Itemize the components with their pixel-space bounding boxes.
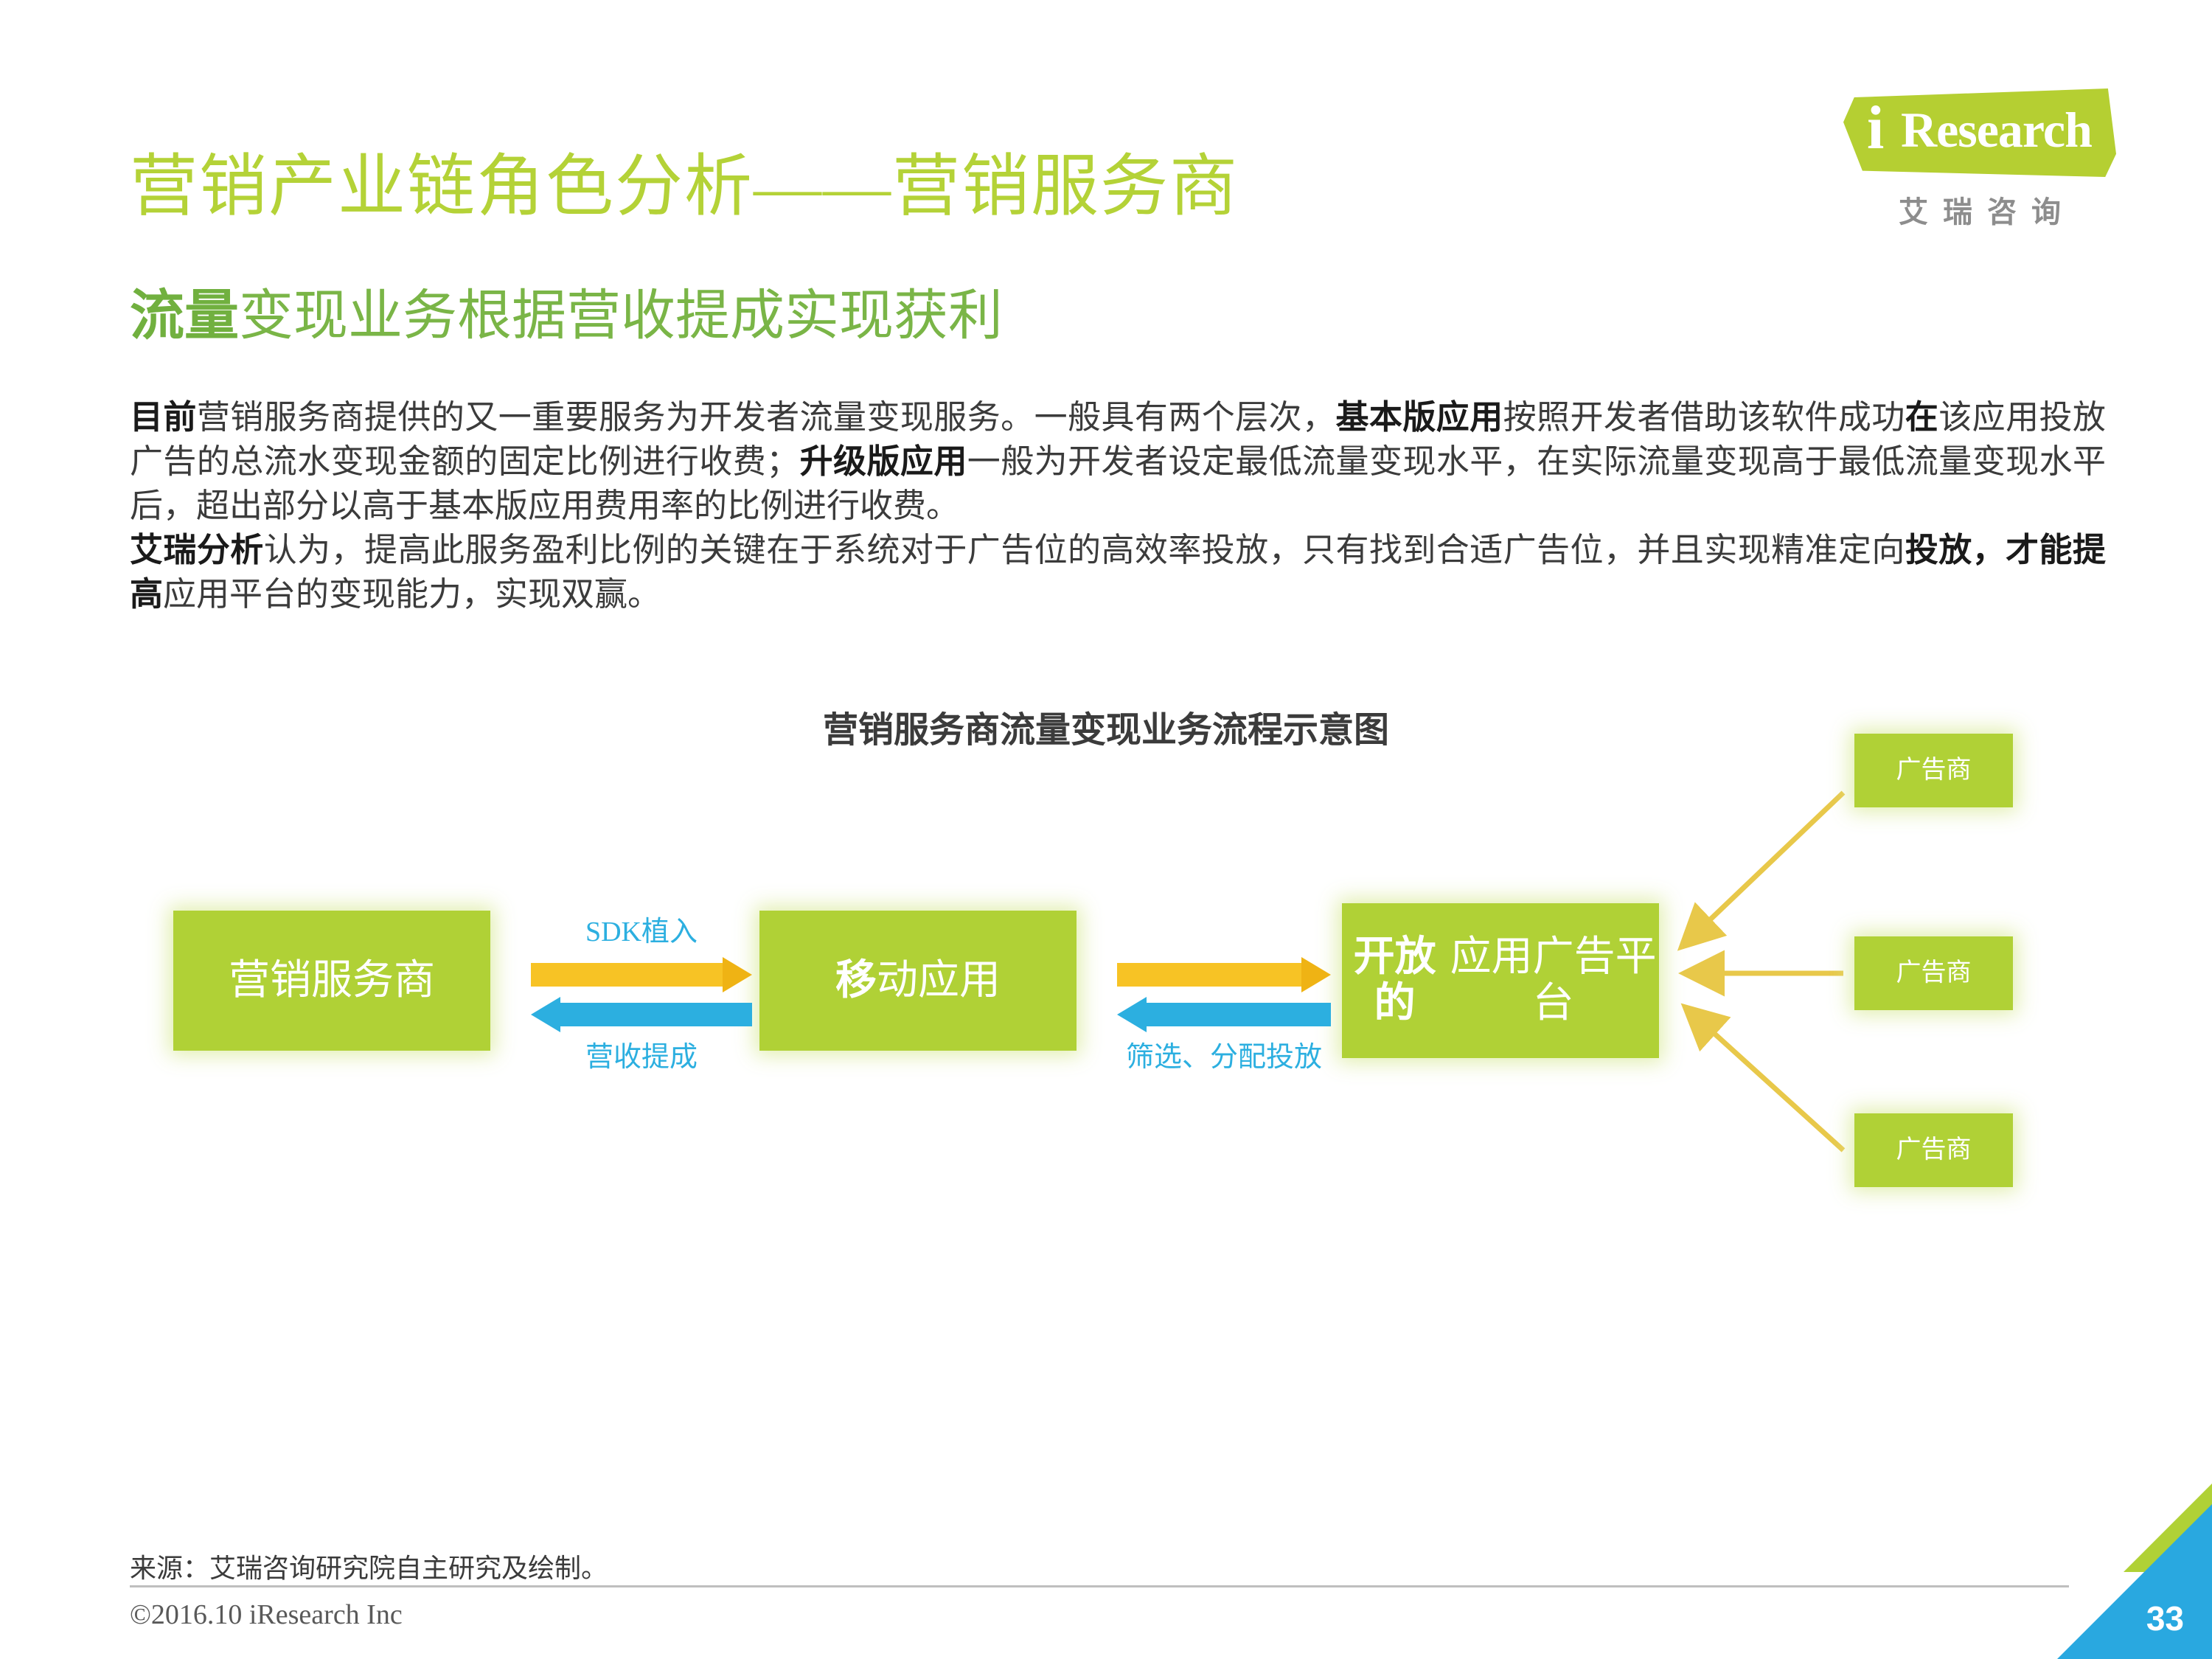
- diagram-node-marketing-service-provider[interactable]: 营销服务商: [173, 911, 490, 1051]
- body-paragraph-2: 艾瑞分析认为，提高此服务盈利比例的关键在于系统对于广告位的高效率投放，只有找到合…: [130, 528, 2106, 616]
- logo-wordmark: Research: [1901, 105, 2092, 155]
- page-subtitle: 流量变现业务根据营收提成实现获利: [130, 271, 1003, 350]
- footer-divider: [130, 1585, 2069, 1587]
- arrow-app-to-platform: [1117, 957, 1331, 992]
- p1-text-2: 按照开发者借助该软件成功: [1503, 399, 1905, 436]
- p1-text-1: 营销服务商提供的又一重要服务为开发者流量变现服务。一般具有两个层次，: [197, 399, 1336, 436]
- node-plat-rest: 应用广告平台: [1447, 934, 1659, 1026]
- node-plat-bold: 开放的: [1342, 934, 1447, 1026]
- node-app-bold: 移: [835, 958, 877, 1004]
- p1-bold-1: 目前: [130, 399, 197, 436]
- diagram-node-advertiser-2[interactable]: 广告商: [1854, 936, 2013, 1010]
- diagram-node-open-ad-platform[interactable]: 开放的应用广告平台: [1342, 903, 1659, 1058]
- edge-label-sdk-embed: SDK植入: [524, 908, 759, 949]
- source-note: 来源：艾瑞咨询研究院自主研究及绘制。: [130, 1547, 608, 1585]
- copyright-text: ©2016.10 iResearch Inc: [130, 1599, 403, 1631]
- p1-bold-3: 在: [1905, 399, 1938, 436]
- page-subtitle-rest: 变现业务根据营收提成实现获利: [239, 286, 1003, 347]
- arrow-sdk-embed: [531, 957, 752, 992]
- edge-label-filter-distribute: 筛选、分配投放: [1099, 1034, 1349, 1074]
- corner-accent-blue: [2057, 1504, 2212, 1659]
- iresearch-logo: i Research 艾瑞咨询: [1821, 88, 2116, 251]
- body-paragraph-1: 目前营销服务商提供的又一重要服务为开发者流量变现服务。一般具有两个层次，基本版应…: [130, 395, 2106, 528]
- arrow-revenue-share: [531, 997, 752, 1032]
- node-app-rest: 动应用: [877, 958, 1001, 1004]
- body-copy: 目前营销服务商提供的又一重要服务为开发者流量变现服务。一般具有两个层次，基本版应…: [130, 395, 2106, 616]
- p1-bold-2: 基本版应用: [1335, 399, 1503, 436]
- p1-bold-4: 升级版应用: [799, 443, 967, 480]
- logo-letter-i: i: [1867, 97, 1884, 159]
- flow-diagram: 营销服务商 移动应用 开放的应用广告平台 广告商 广告商 广告商 SDK植入 营…: [0, 723, 2212, 1253]
- diagram-node-advertiser-3[interactable]: 广告商: [1854, 1113, 2013, 1187]
- p2-text-2: 应用平台的变现能力，实现双赢。: [163, 576, 661, 613]
- diagram-node-advertiser-1[interactable]: 广告商: [1854, 734, 2013, 807]
- logo-chinese-name: 艾瑞咨询: [1843, 188, 2116, 231]
- p2-text-1: 认为，提高此服务盈利比例的关键在于系统对于广告位的高效率投放，只有找到合适广告位…: [264, 532, 1905, 568]
- edge-label-revenue-share: 营收提成: [524, 1034, 759, 1074]
- p2-bold-1: 艾瑞分析: [130, 532, 264, 568]
- page-title: 营销产业链角色分析——营销服务商: [130, 131, 1239, 229]
- arrow-filter-distribute: [1117, 997, 1331, 1032]
- page-number: 33: [2146, 1599, 2184, 1638]
- page-subtitle-highlight: 流量: [130, 286, 239, 347]
- diagram-node-mobile-app[interactable]: 移动应用: [759, 911, 1077, 1051]
